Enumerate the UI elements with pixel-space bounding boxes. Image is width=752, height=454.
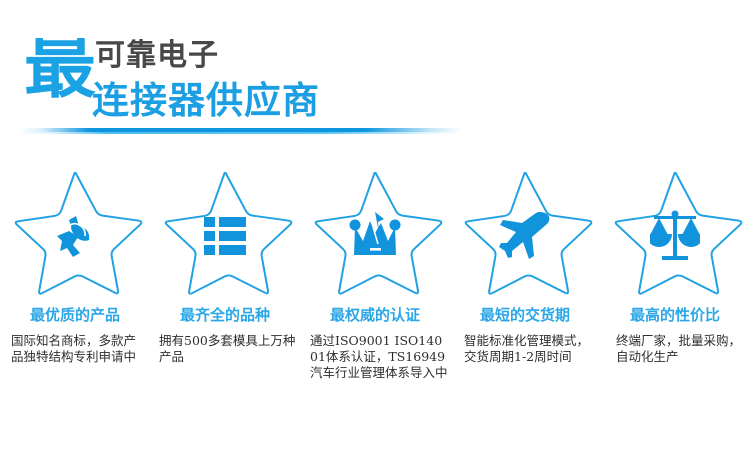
header-divider [18,127,463,135]
star-badge [300,172,450,300]
headline-line-one: 可靠电子 [95,41,219,71]
feature-item-quality: 最优质的产品 国际知名商标，多款产品独特结构专利申请中 [0,172,150,381]
star-badge [0,172,150,300]
feature-item-value: 最高的性价比 终端厂家，批量采购，自动化生产 [600,172,750,381]
star-badge [450,172,600,300]
feature-description: 终端厂家，批量采购，自动化生产 [600,333,750,365]
headline-big-character: 最 [24,38,102,120]
feature-description: 国际知名商标，多款产品独特结构专利申请中 [0,333,150,365]
feature-title: 最高的性价比 [600,308,750,323]
feature-description: 拥有500多套模具上万种产品 [150,333,300,365]
star-badge [150,172,300,300]
feature-title: 最短的交货期 [450,308,600,323]
feature-item-delivery: 最短的交货期 智能标准化管理模式，交货周期1-2周时间 [450,172,600,381]
headline-line-two: 连接器供应商 [92,82,320,119]
banner-header: 最 可靠电子 连接器供应商 [0,0,752,140]
feature-item-variety: 最齐全的品种 拥有500多套模具上万种产品 [150,172,300,381]
feature-title: 最权威的认证 [300,308,450,323]
feature-description: 通过ISO9001 ISO14001体系认证，TS16949汽车行业管理体系导入… [300,333,450,381]
divider-bar-thin [18,132,463,134]
feature-item-certification: 最权威的认证 通过ISO9001 ISO14001体系认证，TS16949汽车行… [300,172,450,381]
feature-list: 最优质的产品 国际知名商标，多款产品独特结构专利申请中 [0,172,752,381]
feature-title: 最齐全的品种 [150,308,300,323]
star-badge [600,172,750,300]
feature-title: 最优质的产品 [0,308,150,323]
feature-description: 智能标准化管理模式，交货周期1-2周时间 [450,333,600,365]
